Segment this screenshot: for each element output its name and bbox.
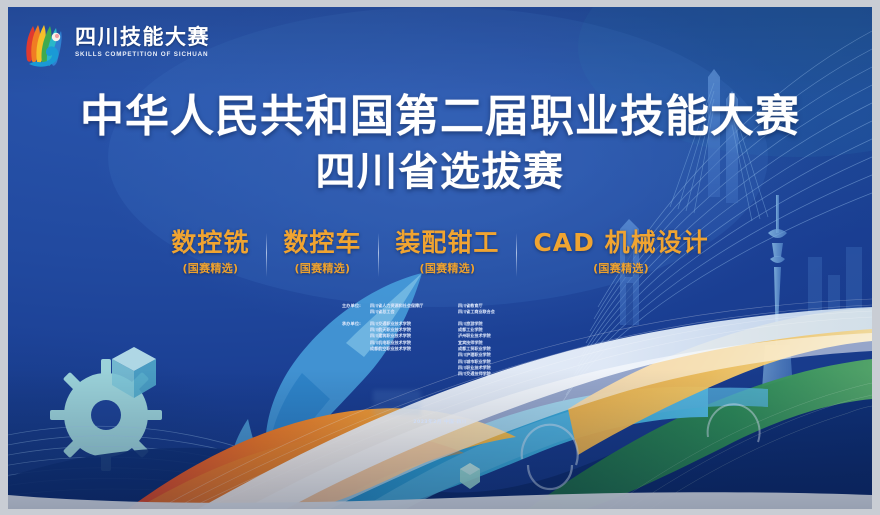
event-item: CAD 机械设计 (国赛精选) — [516, 229, 725, 276]
event-name: 数控车 — [283, 229, 361, 258]
event-tag: (国赛精选) — [533, 260, 708, 276]
organizer-col-left: 四川交通职业技术学院 四川航天职业技术学院 四川建筑职业技术学院 四川机电职业技… — [370, 321, 450, 378]
event-list: 数控铣 (国赛精选) 数控车 (国赛精选) 装配钳工 (国赛精选) CAD 机械… — [8, 229, 872, 276]
page-subtitle: 四川省选拔赛 — [8, 149, 872, 195]
organizer-label: 主办单位: — [342, 303, 370, 316]
logo-name-cn: 四川技能大赛 — [75, 27, 210, 48]
panel-glow-a — [373, 390, 421, 403]
rainbow-fan-logo-icon — [22, 18, 68, 68]
event-item: 数控铣 (国赛精选) — [154, 229, 266, 276]
event-tag: (国赛精选) — [283, 260, 361, 276]
organizer-entry: 四川交通技师学院 — [458, 371, 538, 377]
organizer-block: 主办单位: 四川省人力资源和社会保障厅 四川省总工会 四川省教育厅 四川省工商业… — [8, 303, 872, 383]
title-block: 中华人民共和国第二届职业技能大赛 四川省选拔赛 — [8, 91, 872, 195]
banner-frame: 四川技能大赛 SKILLS COMPETITION OF SICHUAN 中华人… — [8, 7, 872, 509]
organizer-entry: 四川省工商业联合会 — [458, 309, 538, 315]
organizer-group-cohost: 承办单位: 四川交通职业技术学院 四川航天职业技术学院 四川建筑职业技术学院 四… — [342, 321, 538, 378]
logo: 四川技能大赛 SKILLS COMPETITION OF SICHUAN — [22, 18, 210, 68]
organizer-entry: 成都航空职业技术学院 — [370, 346, 450, 352]
event-item: 数控车 (国赛精选) — [266, 229, 378, 276]
event-name: 装配钳工 — [395, 229, 499, 258]
logo-name-en: SKILLS COMPETITION OF SICHUAN — [75, 52, 210, 58]
organizer-col-right: 四川旅游学院 成都工业学院 泸州职业技术学院 宜宾技师学院 成都工贸职业学院 四… — [458, 321, 538, 378]
date-location-line: 2023年2月 中国·四川 — [8, 419, 872, 425]
event-tag: (国赛精选) — [395, 260, 499, 276]
organizer-group-host: 主办单位: 四川省人力资源和社会保障厅 四川省总工会 四川省教育厅 四川省工商业… — [342, 303, 538, 316]
banner-backdrop: 四川技能大赛 SKILLS COMPETITION OF SICHUAN 中华人… — [0, 0, 880, 515]
page-title: 中华人民共和国第二届职业技能大赛 — [8, 91, 872, 143]
panel-glow-b — [373, 405, 421, 415]
organizer-entry: 四川省总工会 — [370, 309, 450, 315]
organizer-col-left: 四川省人力资源和社会保障厅 四川省总工会 — [370, 303, 450, 316]
event-name: 数控铣 — [171, 229, 249, 258]
event-item: 装配钳工 (国赛精选) — [378, 229, 516, 276]
event-tag: (国赛精选) — [171, 260, 249, 276]
organizer-col-right: 四川省教育厅 四川省工商业联合会 — [458, 303, 538, 316]
organizer-label: 承办单位: — [342, 321, 370, 378]
event-name: CAD 机械设计 — [533, 229, 708, 258]
